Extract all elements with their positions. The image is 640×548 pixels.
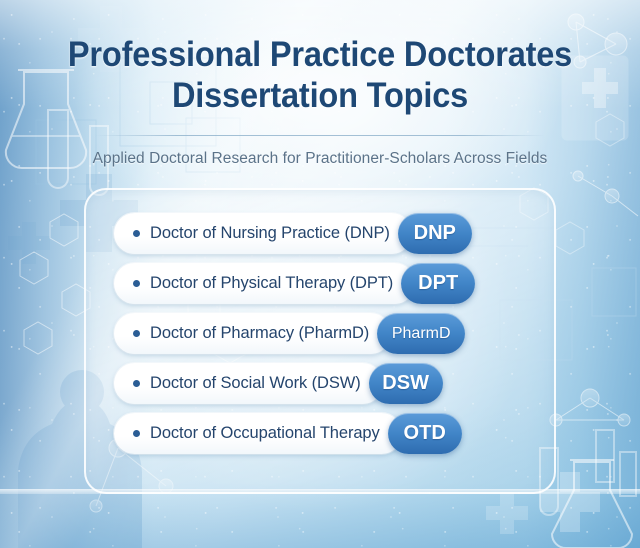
status-badge[interactable]: DSW — [369, 363, 443, 404]
page-subtitle: Applied Doctoral Research for Practition… — [0, 150, 640, 168]
status-badge[interactable]: DPT — [401, 263, 475, 304]
list-item-pill: Doctor of Physical Therapy (DPT) — [114, 263, 415, 304]
page-title-line1: Professional Practice Doctorates — [60, 34, 581, 75]
list-item-label: Doctor of Occupational Therapy — [150, 424, 380, 443]
bullet-icon — [133, 430, 140, 437]
bullet-icon — [133, 380, 140, 387]
status-badge[interactable]: PharmD — [377, 313, 465, 354]
poster-header: Professional Practice Doctorates Dissert… — [0, 0, 640, 168]
list-item-pill: Doctor of Nursing Practice (DNP) — [114, 213, 412, 254]
header-divider — [95, 135, 545, 136]
list-item[interactable]: Doctor of Physical Therapy (DPT)DPT — [114, 263, 475, 304]
doctorate-list: Doctor of Nursing Practice (DNP)DNPDocto… — [84, 188, 556, 494]
list-item-label: Doctor of Pharmacy (PharmD) — [150, 324, 369, 343]
list-item-pill: Doctor of Occupational Therapy — [114, 413, 402, 454]
list-item-pill: Doctor of Social Work (DSW) — [114, 363, 383, 404]
status-badge[interactable]: DNP — [398, 213, 472, 254]
bullet-icon — [133, 330, 140, 337]
list-item-label: Doctor of Physical Therapy (DPT) — [150, 274, 393, 293]
list-item-label: Doctor of Social Work (DSW) — [150, 374, 361, 393]
list-item[interactable]: Doctor of Pharmacy (PharmD)PharmD — [114, 313, 465, 354]
status-badge[interactable]: OTD — [388, 413, 462, 454]
bullet-icon — [133, 230, 140, 237]
list-item[interactable]: Doctor of Social Work (DSW)DSW — [114, 363, 443, 404]
list-item-label: Doctor of Nursing Practice (DNP) — [150, 224, 390, 243]
bullet-icon — [133, 280, 140, 287]
list-item[interactable]: Doctor of Occupational TherapyOTD — [114, 413, 462, 454]
list-item-pill: Doctor of Pharmacy (PharmD) — [114, 313, 391, 354]
page-title-line2: Dissertation Topics — [60, 75, 581, 116]
list-item[interactable]: Doctor of Nursing Practice (DNP)DNP — [114, 213, 472, 254]
poster-canvas: Professional Practice Doctorates Dissert… — [0, 0, 640, 548]
